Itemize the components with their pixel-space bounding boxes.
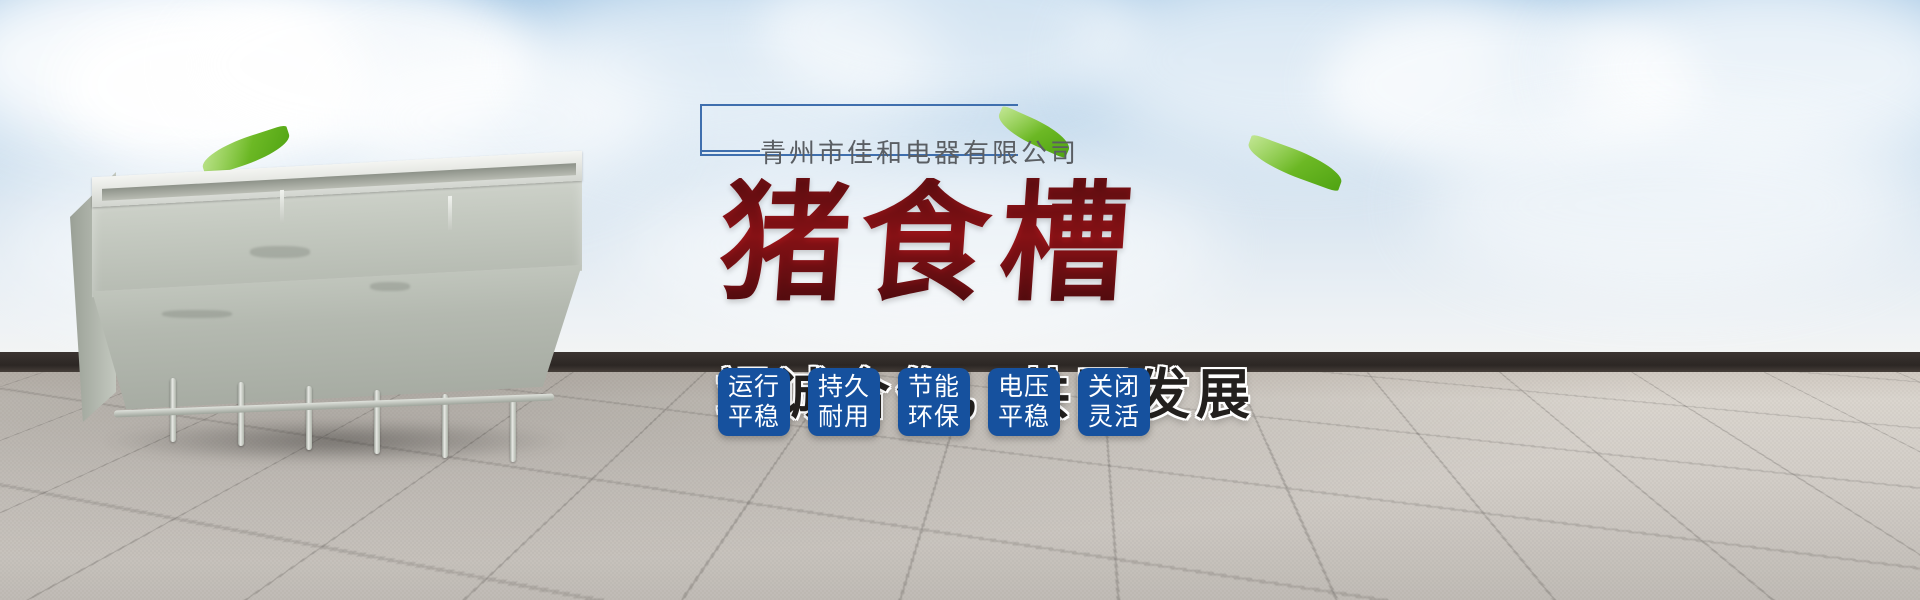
badge-line-1: 运行 [728,372,780,402]
badge-line-1: 节能 [908,372,960,402]
badge-line-1: 关闭 [1088,372,1140,402]
badge-line-1: 电压 [998,372,1050,402]
feature-badge[interactable]: 持久 耐用 [808,368,880,436]
company-name: 青州市佳和电器有限公司 [760,133,1079,170]
feature-badge[interactable]: 电压 平稳 [988,368,1060,436]
feature-badge[interactable]: 运行 平稳 [718,368,790,436]
badge-line-1: 持久 [818,372,870,402]
badge-line-2: 耐用 [818,402,870,432]
feature-badge-list: 运行 平稳 持久 耐用 节能 环保 电压 平稳 关闭 灵活 [718,368,1150,436]
promo-banner: 青州市佳和电器有限公司 猪食槽 竭诚合作，共同发展 运行 平稳 持久 耐用 节能… [0,0,1920,600]
company-name-frame-dash [702,150,760,152]
page-title: 猪食槽 [715,178,1144,308]
badge-line-2: 环保 [908,402,960,432]
badge-line-2: 平稳 [998,402,1050,432]
product-image-feeder-trough [70,150,590,470]
badge-line-2: 平稳 [728,402,780,432]
feature-badge[interactable]: 节能 环保 [898,368,970,436]
feature-badge[interactable]: 关闭 灵活 [1078,368,1150,436]
badge-line-2: 灵活 [1088,402,1140,432]
